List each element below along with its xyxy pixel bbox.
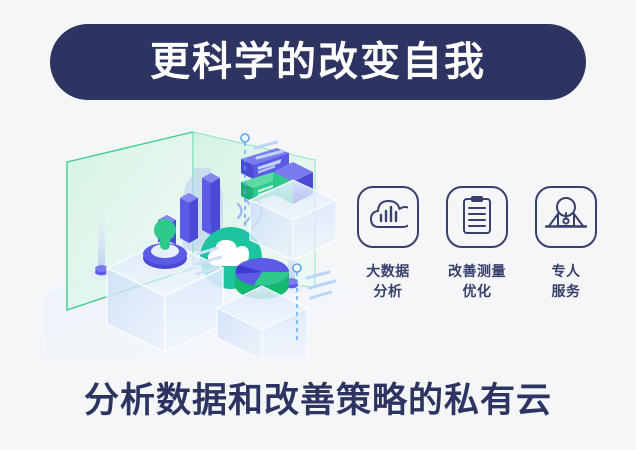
feature-label: 专人 服务 (552, 261, 581, 302)
clipboard-icon (461, 195, 493, 240)
feature-item-measurement[interactable]: 改善测量 优化 (441, 186, 513, 302)
header-banner: 更科学的改变自我 (50, 24, 586, 100)
banner-title: 更科学的改变自我 (150, 42, 486, 82)
feature-item-service[interactable]: 专人 服务 (530, 186, 602, 302)
feature-item-big-data[interactable]: 大数据 分析 (352, 186, 424, 302)
feature-label: 大数据 分析 (366, 261, 410, 302)
promo-poster: 更科学的改变自我 (0, 0, 636, 450)
feature-list: 大数据 分析 改善测量 优化 (352, 186, 602, 331)
feature-icon-box (357, 186, 419, 248)
feature-icon-box (446, 186, 508, 248)
feature-icon-box (535, 186, 597, 248)
page-headline: 分析数据和改善策略的私有云 (0, 382, 636, 421)
cloud-bar-chart-icon (368, 198, 408, 237)
illustration-isometric-scene (45, 120, 375, 360)
feature-label: 改善测量 优化 (448, 261, 506, 302)
service-person-icon (545, 197, 587, 238)
